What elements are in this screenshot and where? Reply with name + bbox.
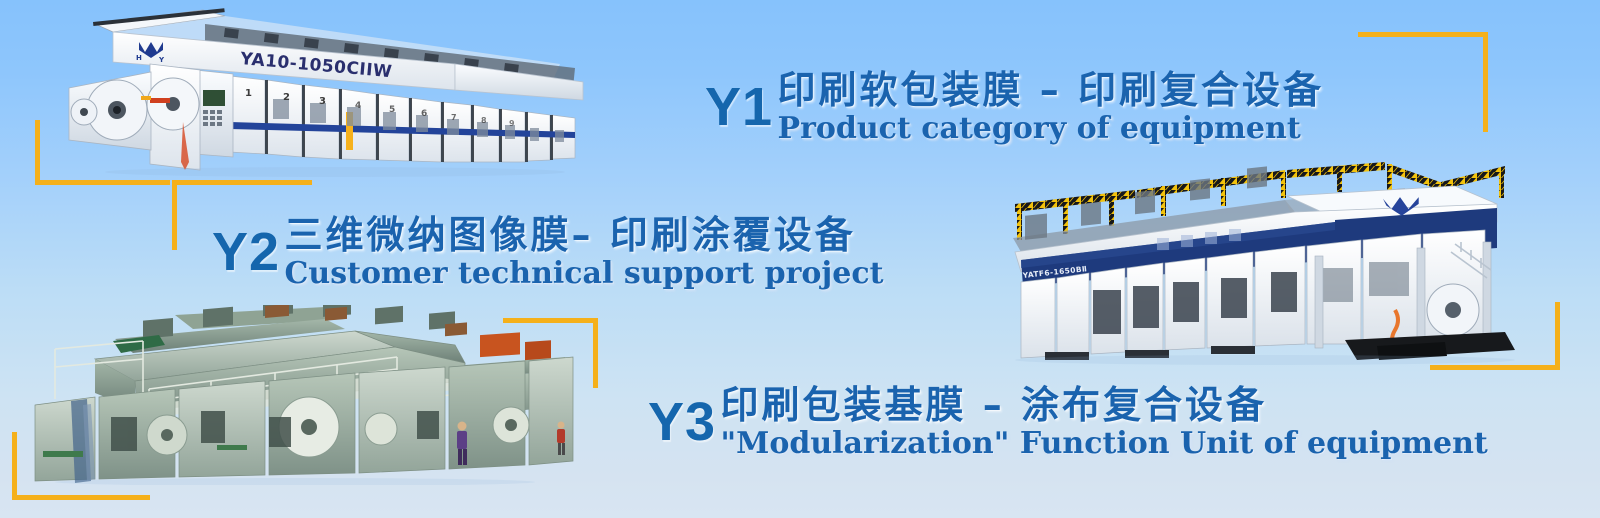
press-unit-number: 3 — [319, 96, 326, 107]
y2-title-en: Customer technical support project — [285, 257, 884, 291]
y1-title-cn: 印刷软包装膜 – 印刷复合设备 — [778, 68, 1324, 112]
press-unit-number: 5 — [389, 105, 395, 115]
y1-label: Y1 — [705, 81, 773, 133]
text-block-y2: Y2 三维微纳图像膜– 印刷涂覆设备 Customer technical su… — [212, 213, 883, 291]
bracket-top-right — [1358, 32, 1488, 132]
press-unit-number: 7 — [451, 113, 457, 122]
press-unit-number: 4 — [355, 101, 361, 111]
machine-photo-rotogravure-press: H Y YA10-1050CIIW — [55, 2, 600, 177]
promo-banner: H Y YA10-1050CIIW — [0, 0, 1600, 518]
y3-title-en: "Modularization" Function Unit of equipm… — [721, 427, 1488, 461]
press-unit-number: 2 — [283, 92, 290, 103]
y2-label: Y2 — [212, 226, 280, 278]
y3-titles: 印刷包装基膜 – 涂布复合设备 "Modularization" Functio… — [721, 383, 1488, 461]
machine-photo-coating-line — [25, 305, 580, 485]
press-unit-number: 8 — [481, 116, 487, 125]
svg-text:H: H — [136, 54, 142, 62]
y3-label: Y3 — [648, 396, 716, 448]
y2-title-cn: 三维微纳图像膜– 印刷涂覆设备 — [285, 213, 884, 257]
y3-title-cn: 印刷包装基膜 – 涂布复合设备 — [721, 383, 1488, 427]
svg-text:Y: Y — [158, 56, 165, 64]
press-unit-number: 9 — [509, 119, 515, 128]
press-unit-number: 6 — [421, 109, 427, 119]
text-block-y1: Y1 印刷软包装膜 – 印刷复合设备 Product category of e… — [705, 68, 1324, 146]
y2-titles: 三维微纳图像膜– 印刷涂覆设备 Customer technical suppo… — [285, 213, 884, 291]
machine-photo-coating-laminator: YATF6-1650BⅡ — [985, 160, 1525, 365]
y1-titles: 印刷软包装膜 – 印刷复合设备 Product category of equi… — [778, 68, 1324, 146]
text-block-y3: Y3 印刷包装基膜 – 涂布复合设备 "Modularization" Func… — [648, 383, 1488, 461]
press-unit-number: 1 — [245, 88, 252, 99]
y1-title-en: Product category of equipment — [778, 112, 1324, 146]
worker-figure — [457, 422, 467, 466]
